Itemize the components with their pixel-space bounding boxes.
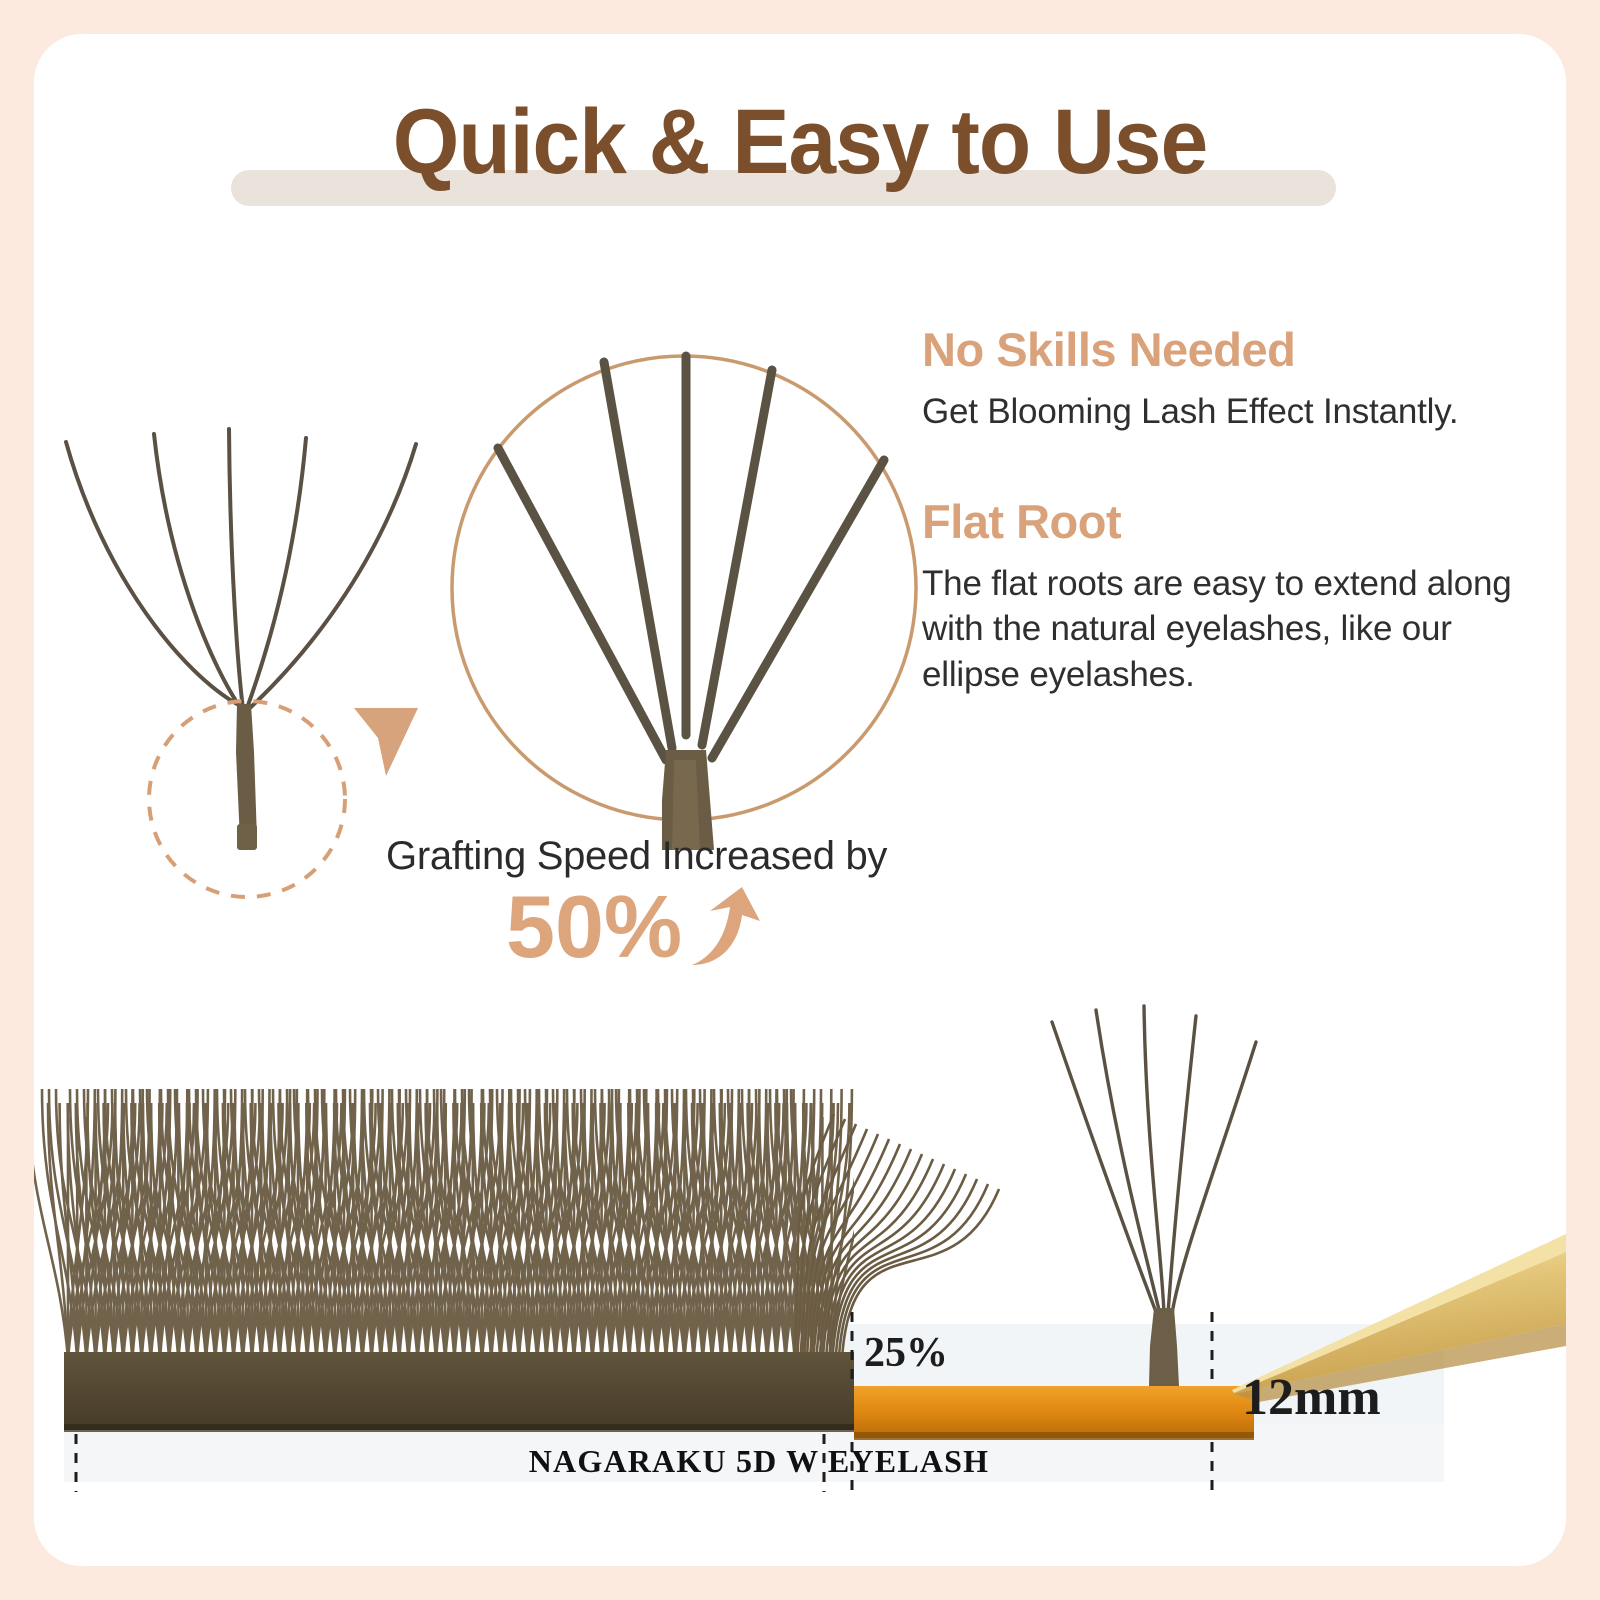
page-title: Quick & Easy to Use xyxy=(88,96,1513,188)
grafting-speed-label: Grafting Speed Increased by xyxy=(386,834,986,879)
product-photo-area: 25% 12mm NAGARAKU 5D W EYELASH xyxy=(34,994,1566,1566)
grafting-speed-value-row: 50% xyxy=(506,883,986,971)
features-column: No Skills Needed Get Blooming Lash Effec… xyxy=(922,324,1522,697)
feature-block-flat-root: Flat Root The flat roots are easy to ext… xyxy=(922,496,1522,697)
feature-block-no-skills: No Skills Needed Get Blooming Lash Effec… xyxy=(922,324,1522,434)
feature-heading: Flat Root xyxy=(922,496,1522,549)
triangle-pointer-icon xyxy=(346,698,436,788)
length-marker-label: 12mm xyxy=(1242,1369,1381,1426)
content-card: Quick & Easy to Use xyxy=(34,34,1566,1566)
orange-ribbon xyxy=(854,1386,1254,1438)
infographic-root: Quick & Easy to Use xyxy=(0,0,1600,1600)
feature-heading: No Skills Needed xyxy=(922,324,1522,377)
grafting-speed-value: 50% xyxy=(506,883,682,971)
percent-marker-label: 25% xyxy=(864,1330,948,1376)
brand-label: NAGARAKU 5D W EYELASH xyxy=(529,1443,990,1479)
feature-body: Get Blooming Lash Effect Instantly. xyxy=(922,389,1522,435)
feature-body: The flat roots are easy to extend along … xyxy=(922,561,1522,698)
lash-fan-magnified-diagram xyxy=(434,330,934,850)
grafting-speed-block: Grafting Speed Increased by 50% xyxy=(386,834,986,971)
lash-fan-diagram-small xyxy=(44,404,444,924)
up-arrow-icon xyxy=(686,885,764,971)
